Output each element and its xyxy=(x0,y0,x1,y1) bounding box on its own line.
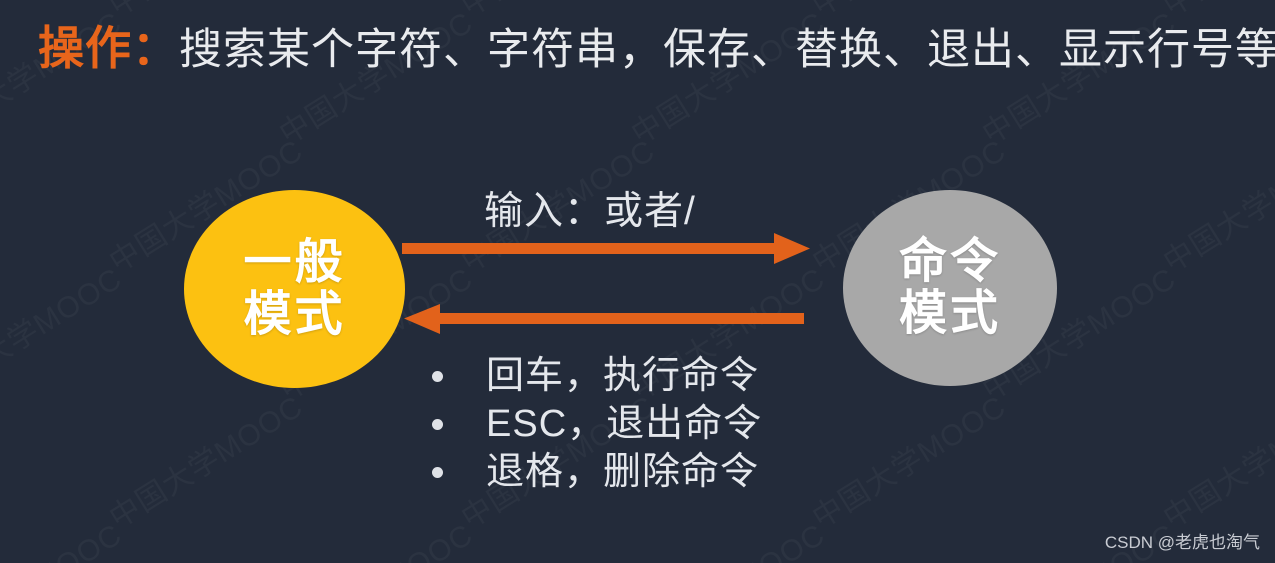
node-command-mode-line2: 模式 xyxy=(899,288,1001,340)
node-normal-mode[interactable]: 一般 模式 xyxy=(184,190,405,388)
bullet-dot-icon xyxy=(432,371,443,382)
arrow-right-label: 输入：或者/ xyxy=(484,180,696,236)
page-title: 操作：搜索某个字符、字符串，保存、替换、退出、显示行号等。 xyxy=(38,12,1275,78)
bullet-dot-icon xyxy=(432,419,443,430)
node-normal-mode-line2: 模式 xyxy=(243,289,345,341)
list-item: 回车，执行命令 xyxy=(432,352,762,400)
list-item: 退格，删除命令 xyxy=(432,448,762,496)
node-normal-mode-line1: 一般 xyxy=(243,237,345,289)
arrow-right-icon xyxy=(402,233,810,264)
list-item-label: 回车，执行命令 xyxy=(486,357,759,395)
page-title-body: 搜索某个字符、字符串，保存、替换、退出、显示行号等。 xyxy=(179,26,1275,74)
list-item-label: 退格，删除命令 xyxy=(486,453,759,491)
page-title-accent: 操作： xyxy=(38,22,179,74)
footer-credit: CSDN @老虎也淘气 xyxy=(1105,528,1260,553)
slide-canvas: 中国大学MOOC中国大学MOOC中国大学MOOC中国大学MOOC中国大学MOOC… xyxy=(0,0,1275,563)
node-command-mode[interactable]: 命令 模式 xyxy=(843,190,1057,386)
node-command-mode-line1: 命令 xyxy=(899,236,1001,288)
arrow-left-icon xyxy=(404,304,804,334)
list-item: ESC，退出命令 xyxy=(432,400,762,448)
bullet-dot-icon xyxy=(432,467,443,478)
bullet-list: 回车，执行命令 ESC，退出命令 退格，删除命令 xyxy=(432,352,762,496)
list-item-label: ESC，退出命令 xyxy=(486,405,762,443)
